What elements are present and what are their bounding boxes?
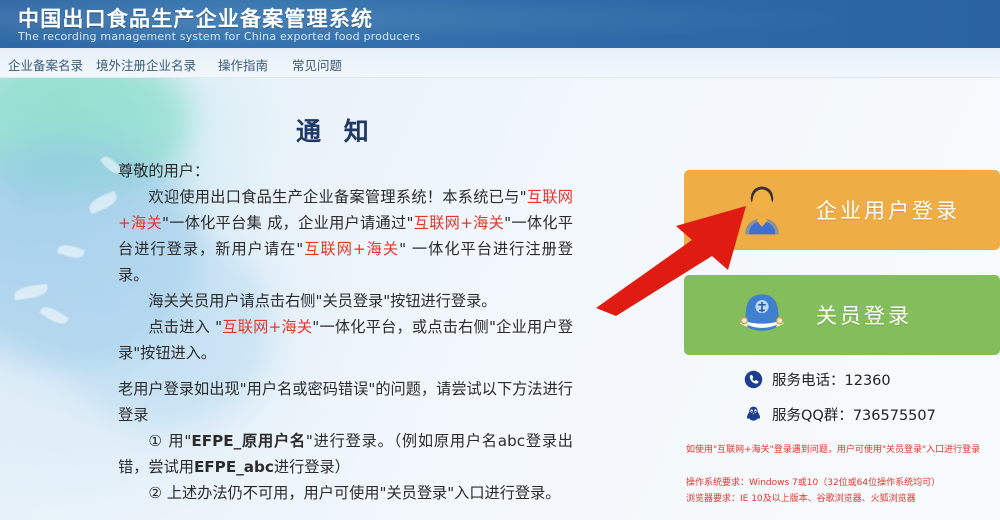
- nav-item-operation-guide[interactable]: 操作指南: [218, 55, 268, 74]
- footer-note-browser-requirement: 浏览器要求：IE 10及以上版本、谷歌浏览器、火狐浏览器: [686, 493, 998, 506]
- service-phone-label: 服务电话：12360: [772, 369, 891, 390]
- site-header: 中国出口食品生产企业备案管理系统 The recording managemen…: [0, 0, 1000, 48]
- p5-text-c: 进行登录）: [274, 458, 350, 476]
- site-title: 中国出口食品生产企业备案管理系统: [18, 3, 373, 33]
- p5-bold-1: EFPE_原用户名: [191, 432, 306, 450]
- p5-bold-2: EFPE_abc: [194, 458, 274, 476]
- footer-note-login-issue: 如使用"互联网+海关"登录遇到问题，用户可使用"关员登录"入口进行登录: [686, 444, 998, 457]
- p5-text-a: ① 用": [148, 432, 191, 450]
- notice-paragraph-4: 老用户登录如出现"用户名或密码错误"的问题，请尝试以下方法进行登录: [118, 376, 573, 428]
- service-qq-row: 服务QQ群：736575507: [744, 404, 936, 425]
- notice-paragraph-3: 点击进入 "互联网+海关"一体化平台，或点击右侧"企业用户登录"按钮进入。: [118, 314, 573, 366]
- footer-note-os-requirement: 操作系统要求：Windows 7或10（32位或64位操作系统均可）: [686, 477, 998, 490]
- notice-paragraph-2: 海关关员用户请点击右侧"关员登录"按钮进行登录。: [118, 288, 573, 314]
- page-root: 中国出口食品生产企业备案管理系统 The recording managemen…: [0, 0, 1000, 520]
- p1-text-b: "一体化平台集 成，企业用户请通过": [162, 214, 413, 232]
- p3-text-a: 点击进入 ": [148, 318, 222, 336]
- notice-body: 尊敬的用户： 欢迎使用出口食品生产企业备案管理系统！本系统已与"互联网+海关"一…: [118, 158, 573, 506]
- notice-paragraph-6: ② 上述办法仍不可用，用户可使用"关员登录"入口进行登录。: [118, 480, 573, 506]
- nav-item-overseas-registry[interactable]: 境外注册企业名录: [96, 55, 196, 74]
- phone-icon: [744, 370, 763, 389]
- notice-title: 通 知: [296, 112, 376, 148]
- p1-text-a: 欢迎使用出口食品生产企业备案管理系统！本系统已与": [148, 188, 526, 206]
- nav-item-enterprise-registry[interactable]: 企业备案名录: [8, 55, 83, 74]
- p3-highlight: 互联网+海关: [222, 318, 312, 336]
- site-subtitle: The recording management system for Chin…: [18, 30, 420, 43]
- nav-item-faq[interactable]: 常见问题: [292, 55, 342, 74]
- p1-highlight-3: 互联网+海关: [303, 240, 399, 258]
- red-arrow-annotation: [596, 196, 776, 316]
- officer-login-label: 关员登录: [816, 300, 912, 330]
- qq-penguin-icon: [744, 405, 763, 424]
- main-navigation: 企业备案名录 境外注册企业名录 操作指南 常见问题: [0, 48, 1000, 78]
- notice-salutation: 尊敬的用户：: [118, 158, 573, 184]
- p1-highlight-2: 互联网+海关: [413, 214, 504, 232]
- notice-paragraph-1: 欢迎使用出口食品生产企业备案管理系统！本系统已与"互联网+海关"一体化平台集 成…: [118, 184, 573, 288]
- notice-paragraph-5: ① 用"EFPE_原用户名"进行登录。（例如原用户名abc登录出错，尝试用EFP…: [118, 428, 573, 480]
- service-qq-label: 服务QQ群：736575507: [772, 404, 936, 425]
- service-phone-row: 服务电话：12360: [744, 369, 891, 390]
- enterprise-login-label: 企业用户登录: [816, 195, 960, 225]
